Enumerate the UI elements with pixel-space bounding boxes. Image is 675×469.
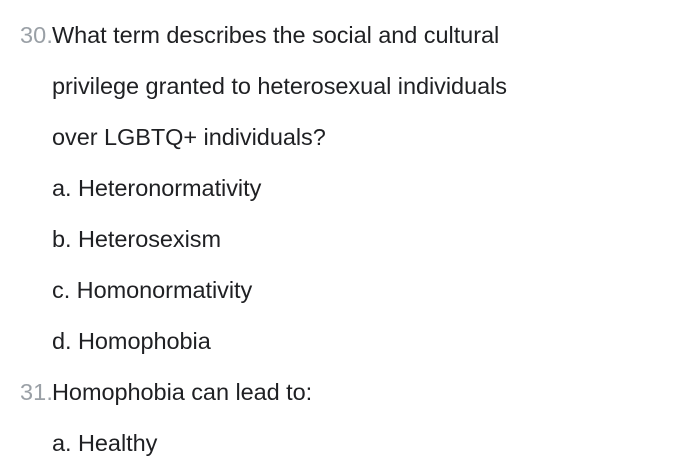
answer-option-label: c. Homonormativity [52,265,252,316]
question-number: 31. [0,367,52,418]
answer-option-label: a. Healthy [52,418,157,469]
quiz-page: 30. What term describes the social and c… [0,0,675,461]
question-prompt-line: 31. Homophobia can lead to: [0,367,675,418]
question-prompt-text: privilege granted to heterosexual indivi… [52,61,507,112]
question-number: 30. [0,10,52,61]
answer-option-c[interactable]: c. Homonormativity [0,265,675,316]
question-prompt-text: Homophobia can lead to: [52,367,312,418]
answer-option-d[interactable]: d. Homophobia [0,316,675,367]
answer-option-a[interactable]: a. Healthy [0,418,675,469]
question-prompt-line: 30. What term describes the social and c… [0,10,675,61]
answer-option-a[interactable]: a. Heteronormativity [0,163,675,214]
question-prompt-text: What term describes the social and cultu… [52,10,499,61]
question-prompt-line: over LGBTQ+ individuals? [0,112,675,163]
question-block-31: 31. Homophobia can lead to: a. Healthy [0,367,675,469]
answer-option-label: b. Heterosexism [52,214,221,265]
answer-option-b[interactable]: b. Heterosexism [0,214,675,265]
answer-option-label: a. Heteronormativity [52,163,261,214]
answer-option-label: d. Homophobia [52,316,211,367]
question-prompt-text: over LGBTQ+ individuals? [52,112,326,163]
question-prompt-line: privilege granted to heterosexual indivi… [0,61,675,112]
question-block-30: 30. What term describes the social and c… [0,0,675,367]
